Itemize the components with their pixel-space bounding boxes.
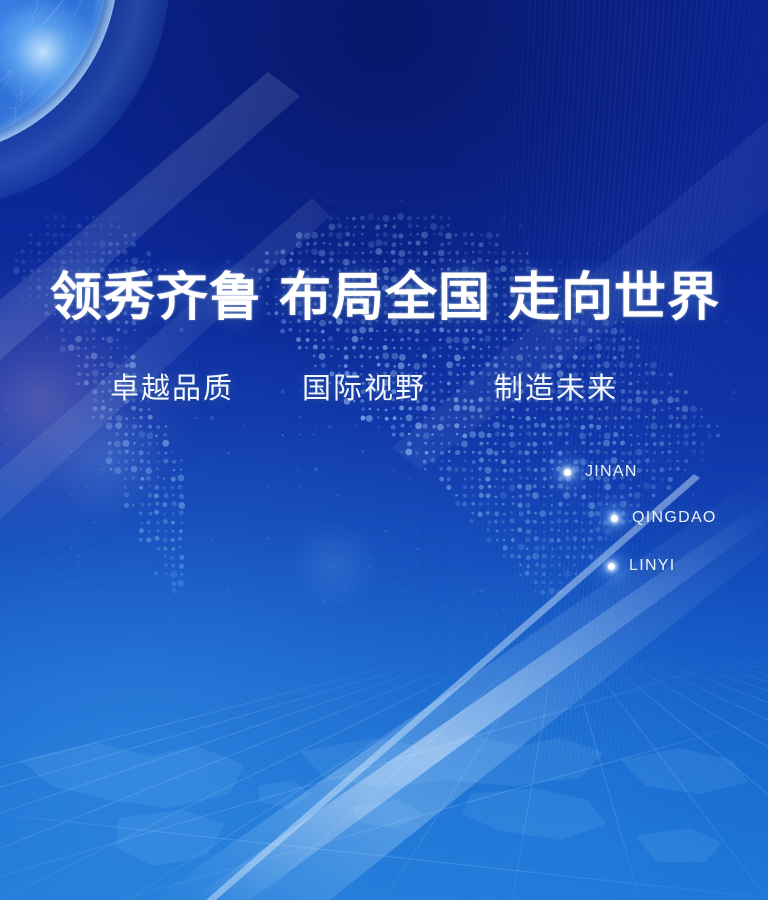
map-pin-icon (564, 469, 571, 476)
headline-part-3: 走向世界 (508, 267, 720, 328)
map-pin-icon (611, 515, 618, 522)
subtitle-item-2: 国际视野 (302, 370, 426, 406)
map-pin-icon (608, 563, 615, 570)
subtitle-item-3: 制造未来 (494, 370, 618, 406)
copy-layer: 领秀齐鲁布局全国走向世界 卓越品质 国际视野 制造未来 JINAN QINGDA… (0, 0, 768, 900)
city-label: QINGDAO (632, 509, 717, 527)
city-marker-jinan[interactable]: JINAN (564, 463, 638, 481)
subtitle-item-1: 卓越品质 (110, 370, 234, 406)
headline-part-2: 布局全国 (279, 267, 491, 328)
page-subtitle: 卓越品质 国际视野 制造未来 (110, 370, 690, 406)
page-title: 领秀齐鲁布局全国走向世界 (50, 268, 720, 328)
city-marker-linyi[interactable]: LINYI (608, 557, 676, 575)
city-marker-qingdao[interactable]: QINGDAO (611, 509, 717, 527)
hero-banner: 领秀齐鲁布局全国走向世界 卓越品质 国际视野 制造未来 JINAN QINGDA… (0, 0, 768, 900)
headline-part-1: 领秀齐鲁 (50, 267, 262, 328)
city-label: JINAN (585, 463, 638, 481)
city-label: LINYI (629, 557, 676, 575)
